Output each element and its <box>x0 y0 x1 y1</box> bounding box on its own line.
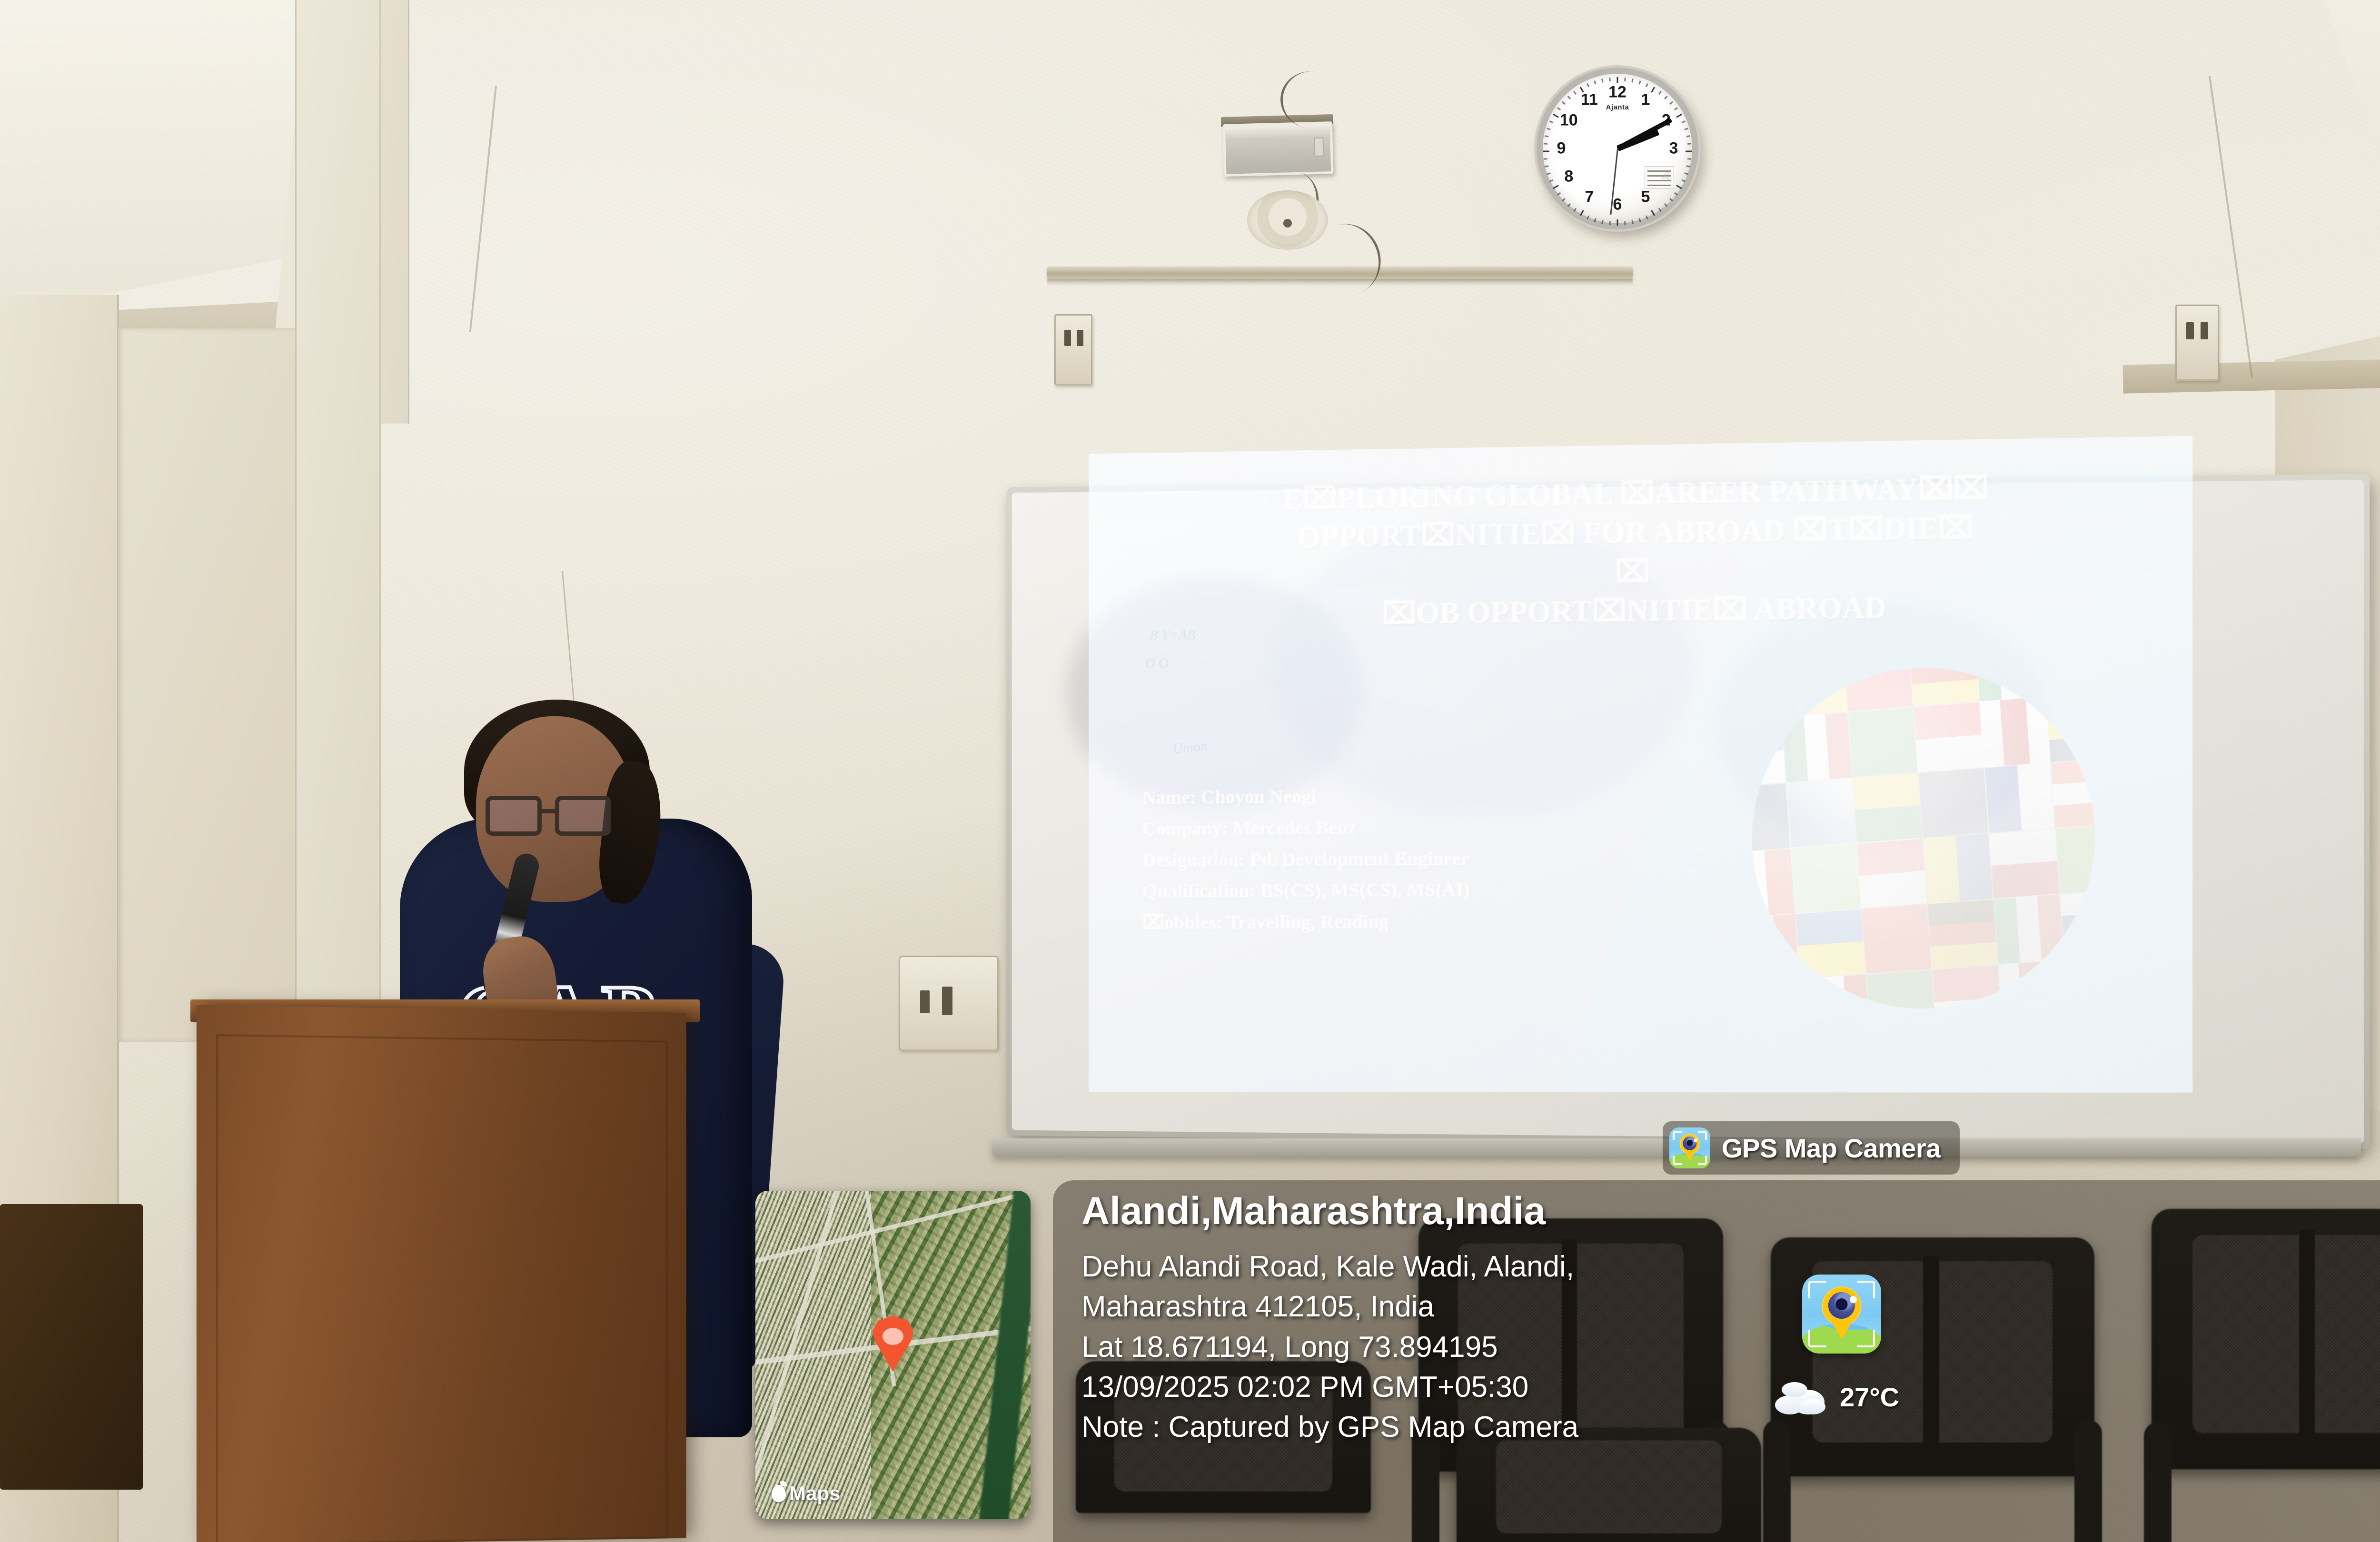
clock-tick <box>1543 151 1549 152</box>
gps-app-badge[interactable]: GPS Map Camera <box>1663 1121 1960 1175</box>
clock-tick <box>1687 158 1691 160</box>
clock-tick <box>1601 220 1604 224</box>
wall-clock: Ajanta 121234567891011 <box>1537 68 1698 229</box>
gps-timestamp: 13/09/2025 02:02 PM GMT+05:30 <box>1081 1367 2129 1407</box>
flag-tile <box>2065 955 2095 1009</box>
flag-tile <box>1752 979 1805 1008</box>
clock-tick <box>1664 203 1668 207</box>
ceiling-fan-mount <box>1247 190 1328 250</box>
clock-tick <box>1562 198 1566 202</box>
clock-tick <box>1609 78 1611 81</box>
weather-temperature: 27°C <box>1840 1382 1899 1413</box>
clock-tick <box>1562 101 1566 105</box>
clock-numeral: 8 <box>1564 168 1573 186</box>
clock-tick <box>1646 83 1648 88</box>
clock-tick <box>1676 114 1682 118</box>
clock-tick <box>1651 210 1655 216</box>
slide-body: Name: Choyon Neogi Company: Mercedes Ben… <box>1142 780 1470 938</box>
clock-numeral: 7 <box>1585 188 1594 207</box>
flag-tile <box>2042 666 2095 697</box>
photo-canvas: Ajanta 121234567891011 B Y=AB O O Union … <box>0 0 2380 1542</box>
apple-logo-icon <box>772 1485 786 1502</box>
flag-tile <box>1752 666 1782 722</box>
podium <box>197 1005 686 1542</box>
clock-tick <box>1587 83 1589 88</box>
clock-tick <box>1557 107 1561 110</box>
clock-tick <box>1651 87 1655 93</box>
clock-tick <box>1617 219 1618 226</box>
gps-details: Dehu Alandi Road, Kale Wadi, Alandi, Mah… <box>1081 1247 2129 1448</box>
clock-tick <box>1674 192 1678 196</box>
gps-address-line-1: Dehu Alandi Road, Kale Wadi, Alandi, <box>1081 1247 2129 1287</box>
weather-widget: 27°C <box>1773 1379 1899 1414</box>
clock-numeral: 1 <box>1641 90 1650 109</box>
clock-numeral: 10 <box>1560 111 1578 130</box>
map-thumbnail[interactable]: Maps <box>755 1191 1031 1519</box>
presenter-glasses-bridge <box>540 809 556 813</box>
clock-tick <box>1674 107 1678 110</box>
clock-tick <box>1573 208 1577 212</box>
light-switch-panel[interactable] <box>899 956 999 1051</box>
clock-tick <box>1631 220 1634 224</box>
clock-tick <box>1682 179 1686 182</box>
clock-tick <box>1638 80 1641 85</box>
clock-tick <box>1658 91 1662 95</box>
clock-numeral: 5 <box>1641 188 1650 207</box>
cloud-icon <box>1773 1379 1830 1414</box>
clock-brand-label: Ajanta <box>1606 103 1629 111</box>
clock-tick <box>1553 185 1559 189</box>
clock-tick <box>1553 114 1559 118</box>
clock-tick <box>1669 101 1673 105</box>
clock-minute-hand <box>1616 118 1673 150</box>
clock-tick <box>1684 128 1688 130</box>
clock-numeral: 12 <box>1608 83 1626 102</box>
presenter-glasses-right <box>555 796 611 836</box>
gps-city-label: Alandi,Maharashtra,India <box>1081 1189 1546 1234</box>
clock-tick <box>1544 143 1547 145</box>
clock-numeral: 9 <box>1557 139 1566 158</box>
clock-tick <box>1601 79 1604 82</box>
gps-note: Note : Captured by GPS Map Camera <box>1081 1407 2129 1447</box>
clock-tick <box>1545 165 1548 168</box>
clock-tick <box>1557 192 1561 196</box>
gps-map-camera-app-icon-large[interactable] <box>1802 1275 1881 1354</box>
clock-tick <box>1544 158 1547 160</box>
clock-tick <box>1580 210 1584 216</box>
clock-tick <box>1624 78 1626 81</box>
slide-body-line: Company: Mercedes Benz <box>1142 811 1470 844</box>
clock-tick <box>1549 179 1554 182</box>
wall-speaker-box <box>1223 121 1334 177</box>
slide-body-line: Name: Choyon Neogi <box>1142 780 1470 813</box>
projected-slide: E⌧PLORING GLOBAL ⌧AREER PATHWAY⌧⌧ OPPORT… <box>1089 436 2192 1093</box>
map-watermark: Maps <box>772 1482 840 1505</box>
clock-tick <box>1687 143 1691 145</box>
clock-tick <box>1547 128 1551 130</box>
presenter-glasses-left <box>486 796 542 836</box>
world-flags-globe-icon <box>1752 666 2095 1009</box>
slide-title: E⌧PLORING GLOBAL ⌧AREER PATHWAY⌧⌧ OPPORT… <box>1089 466 2192 637</box>
slide-body-line: Qualification: BS(CS), MS(CS), MS(AI) <box>1142 874 1470 907</box>
clock-tick <box>1545 135 1548 138</box>
clock-tick <box>1676 185 1682 189</box>
clock-tick <box>1609 221 1611 225</box>
clock-tick <box>1594 80 1596 85</box>
clock-tick <box>1594 218 1596 222</box>
clock-tick <box>1567 203 1571 207</box>
slide-body-line: ⌧obbies: Travelling, Reading <box>1142 905 1470 938</box>
slide-body-line: Designation: Pd. Development Engineer <box>1142 842 1470 876</box>
clock-tick <box>1669 198 1673 202</box>
clock-tick <box>1686 165 1690 168</box>
clock-tick <box>1573 91 1577 95</box>
clock-tick <box>1646 216 1648 220</box>
gps-info-panel: Alandi,Maharashtra,India Dehu Alandi Roa… <box>1053 1180 2380 1542</box>
wall-outlet[interactable] <box>2175 305 2219 381</box>
clock-tick <box>1664 96 1668 99</box>
clock-numeral: 11 <box>1581 90 1598 109</box>
clock-tick <box>1624 221 1626 225</box>
clock-tick <box>1686 151 1692 152</box>
gps-app-name: GPS Map Camera <box>1722 1133 1941 1164</box>
clock-tick <box>1567 96 1571 99</box>
clock-tick <box>1587 216 1589 220</box>
clock-tick <box>1547 172 1551 175</box>
gps-coordinates: Lat 18.671194, Long 73.894195 <box>1081 1327 2129 1367</box>
clock-tick <box>1686 135 1690 138</box>
clock-numeral: 3 <box>1669 139 1678 158</box>
gps-address-line-2: Maharashtra 412105, India <box>1081 1287 2129 1327</box>
clock-tick <box>1617 77 1618 83</box>
map-watermark-label: Maps <box>789 1482 840 1505</box>
clock-tick <box>1684 172 1688 175</box>
clock-tick <box>1658 208 1662 212</box>
gps-map-camera-app-icon <box>1669 1127 1710 1168</box>
clock-tick <box>1631 79 1634 82</box>
wall-column-left <box>295 0 381 1142</box>
clock-tick <box>1549 120 1554 123</box>
clock-tick <box>1682 120 1686 123</box>
clock-tick <box>1638 218 1641 222</box>
wall-outlet[interactable] <box>1054 314 1092 385</box>
wall-niche-left <box>118 328 318 1042</box>
side-table <box>0 1204 143 1490</box>
clock-numeral: 6 <box>1613 196 1622 214</box>
clock-sticker <box>1645 166 1674 189</box>
